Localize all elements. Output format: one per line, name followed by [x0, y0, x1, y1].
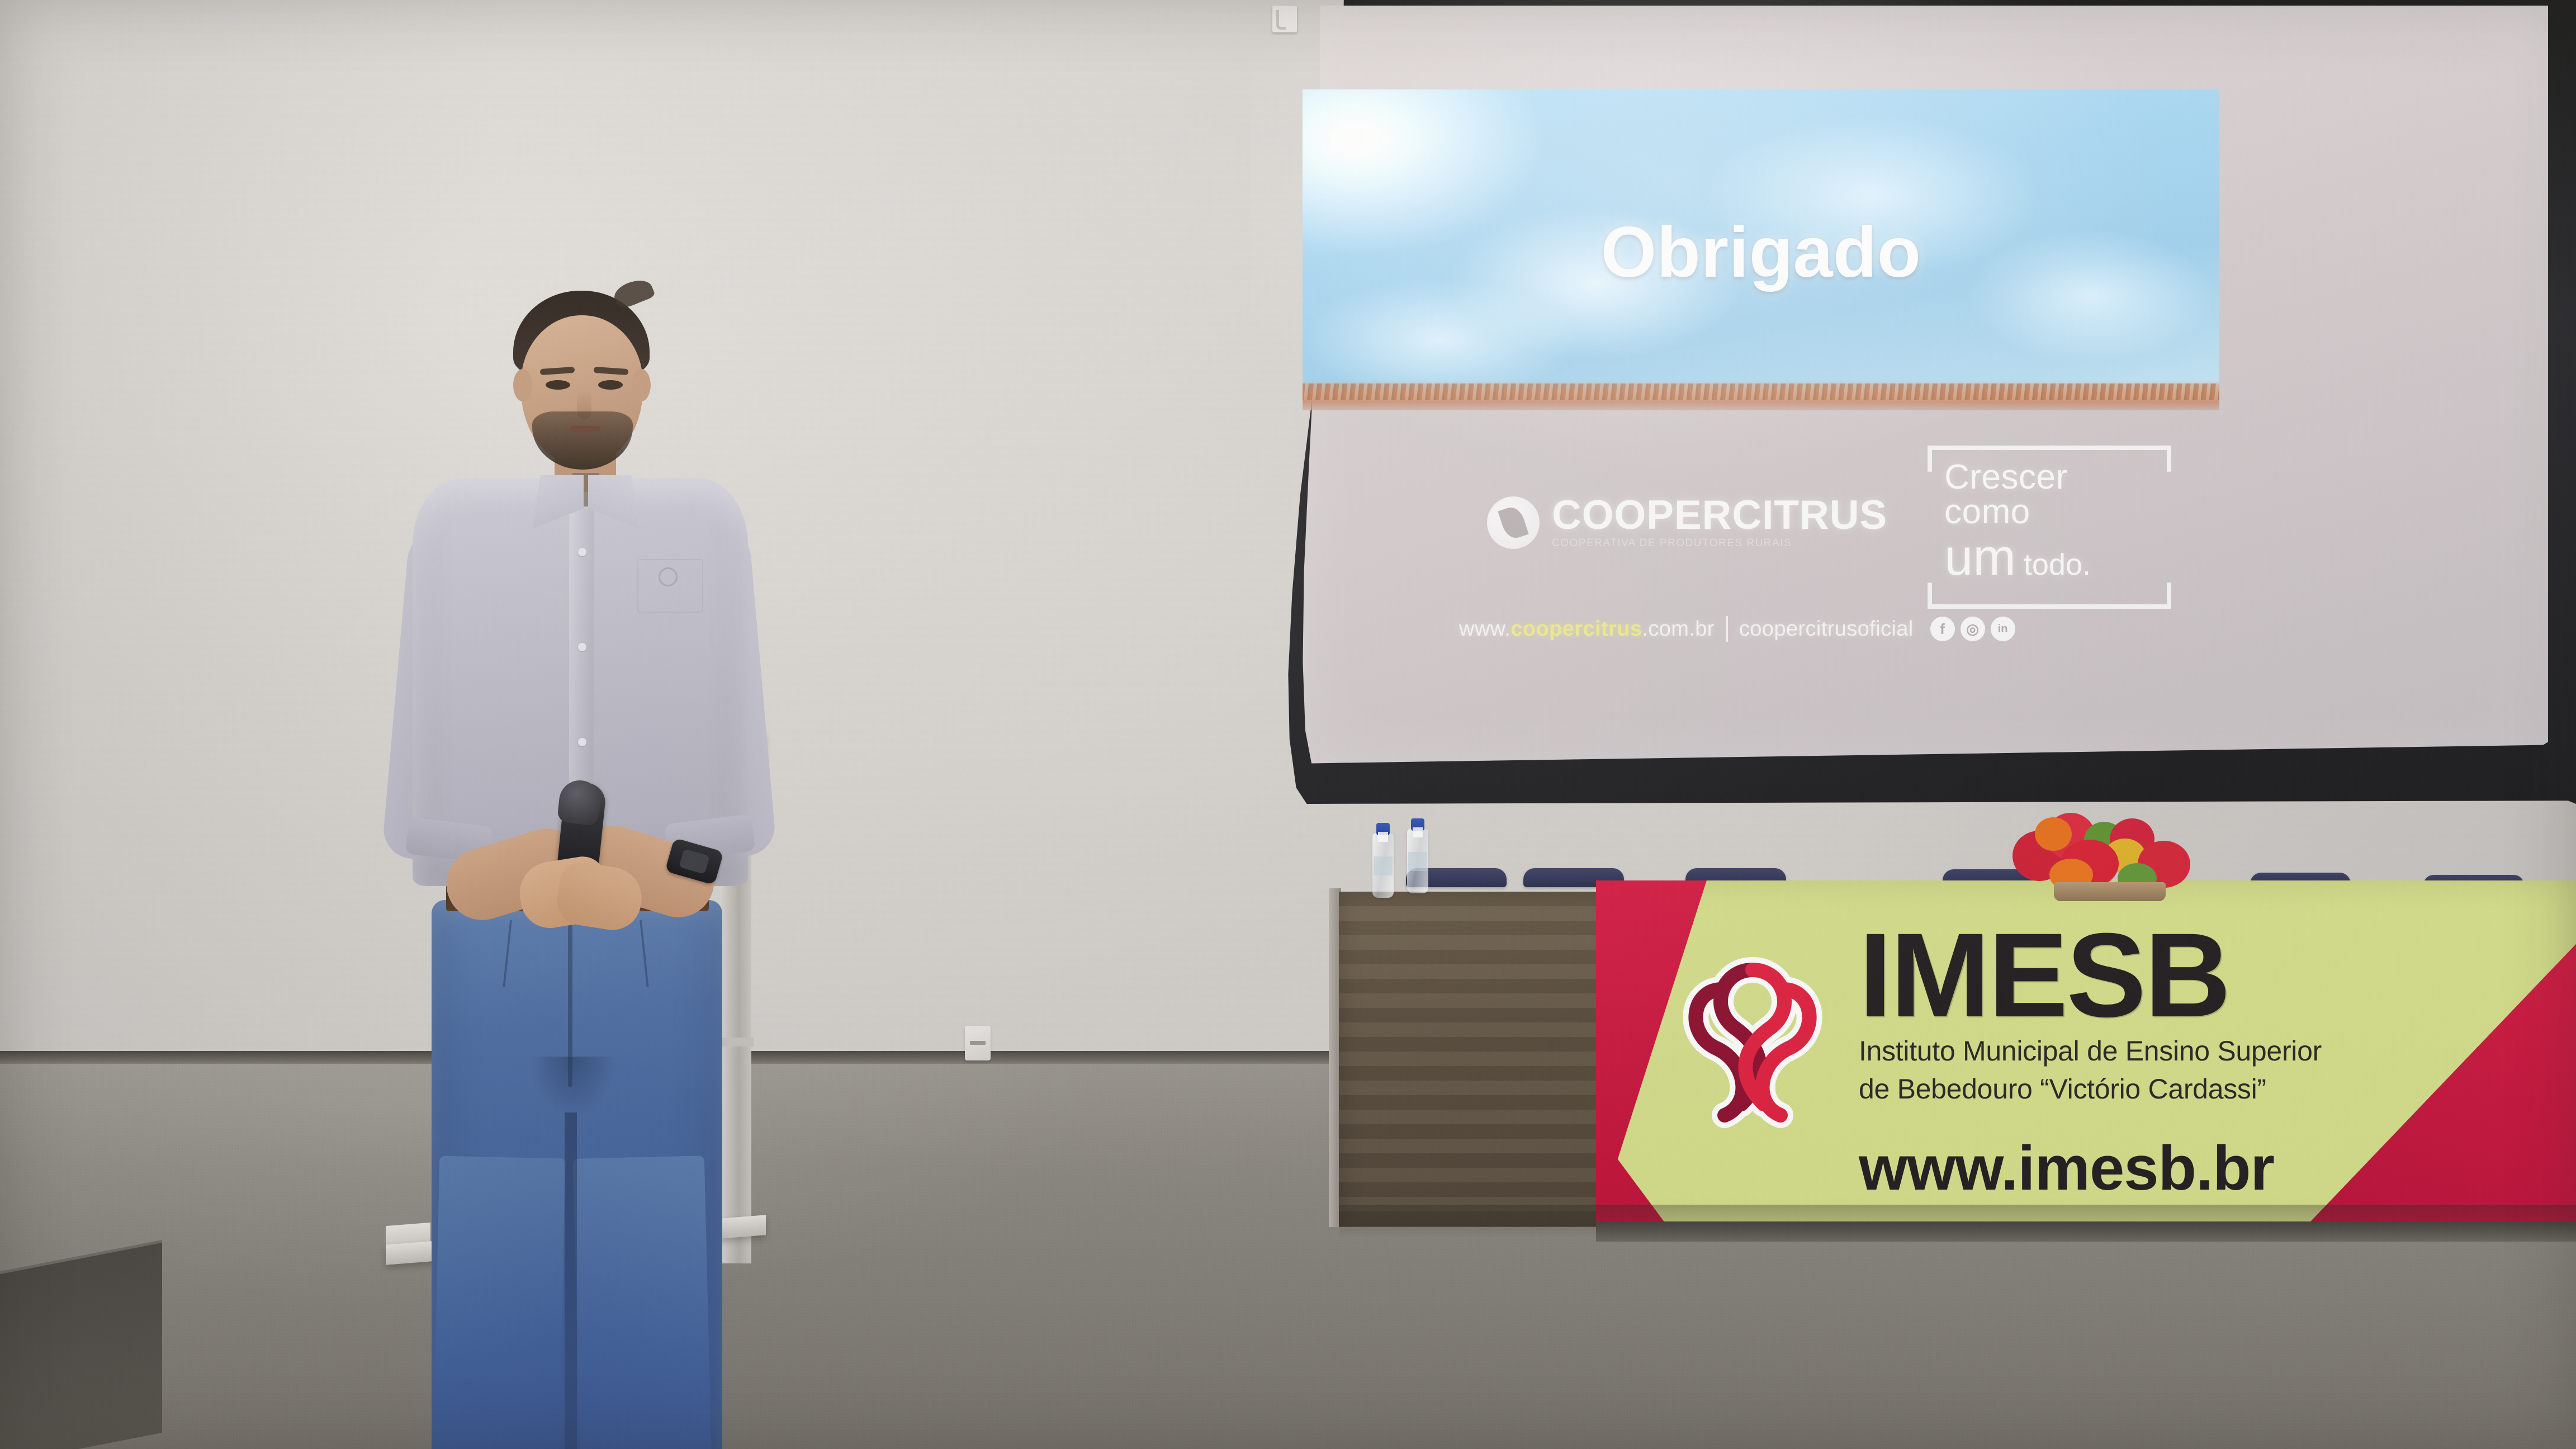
tagline-emphasis: um [1944, 532, 2016, 583]
water-bottle [1407, 828, 1428, 893]
facebook-icon: f [1930, 617, 1955, 641]
mouth [569, 426, 600, 433]
jean-inseam [565, 1112, 577, 1449]
slide-branding-row: COOPERCITRUS COOPERATIVA DE PRODUTORES R… [1487, 458, 2063, 587]
table-wood-front [1339, 892, 1618, 1227]
coopercitrus-wordmark: COOPERCITRUS COOPERATIVA DE PRODUTORES R… [1552, 496, 1887, 550]
social-icons: f ◎ in [1930, 617, 2015, 641]
flower-arrangement [2000, 805, 2224, 903]
slide-title: Obrigado [1303, 211, 2219, 293]
tagline-frame: Crescer como um todo. [1928, 446, 2162, 600]
wall-outlet-plate [965, 1026, 991, 1060]
imesb-knot-logo [1669, 936, 1836, 1160]
tagline-line1: Crescer como [1944, 460, 2143, 529]
slide-footer: www. coopercitrus .com.br coopercitrusof… [1459, 609, 2130, 648]
coopercitrus-name: COOPERCITRUS [1552, 496, 1887, 534]
ear-right [632, 369, 651, 401]
footer-handle: coopercitrusoficial [1739, 617, 1914, 641]
head-table: IMESB Instituto Municipal de Ensino Supe… [1339, 892, 2576, 1227]
eye-left [546, 380, 570, 390]
shirt-button [578, 548, 586, 556]
footer-url-brand: coopercitrus [1510, 617, 1642, 641]
water-bottle [1372, 833, 1394, 898]
banner-title: IMESB [1859, 924, 2440, 1027]
floor-step [0, 1243, 162, 1449]
banner-subtitle-line2: de Bebedouro “Victório Cardassi” [1859, 1073, 2440, 1105]
instagram-icon: ◎ [1961, 617, 1985, 641]
slide-horizon-band [1303, 380, 2219, 410]
flower-base [2054, 882, 2166, 901]
beard [532, 411, 633, 470]
jean-leg-right [573, 1156, 713, 1449]
speaker [335, 285, 799, 1448]
bottle-label [1408, 852, 1427, 871]
leaf-flame-icon [1487, 496, 1540, 549]
footer-url-prefix: www. [1459, 617, 1510, 641]
banner-url: www.imesb.br [1859, 1132, 2440, 1204]
jean-leg-left [433, 1156, 566, 1449]
bottle-neck [1378, 832, 1388, 842]
footer-url-suffix: .com.br [1642, 617, 1715, 641]
linkedin-icon: in [1991, 617, 2015, 641]
banner-subtitle-line1: Instituto Municipal de Ensino Superior [1859, 1035, 2440, 1067]
imesb-banner: IMESB Instituto Municipal de Ensino Supe… [1596, 880, 2576, 1227]
flower-petal [2035, 817, 2072, 851]
bottle-label [1374, 856, 1393, 875]
ear-left [513, 369, 532, 401]
coopercitrus-logo: COOPERCITRUS COOPERATIVA DE PRODUTORES R… [1487, 496, 1887, 550]
banner-text-block: IMESB Instituto Municipal de Ensino Supe… [1859, 924, 2440, 1204]
coopercitrus-subtitle: COOPERATIVA DE PRODUTORES RURAIS [1552, 537, 1887, 550]
shirt-pocket-logo [659, 567, 678, 586]
presentation-photo-scene: Obrigado COOPERCITRUS COOPERATIVA DE PRO… [0, 0, 2576, 1449]
footer-separator [1726, 616, 1728, 642]
shirt-button [578, 738, 586, 746]
slide-content: Obrigado COOPERCITRUS COOPERATIVA DE PRO… [1303, 89, 2236, 699]
shirt-button [578, 643, 586, 651]
eye-right [598, 380, 623, 390]
table-floor-shadow [1339, 1205, 2576, 1238]
tagline-line2: todo. [2024, 550, 2091, 580]
bottle-neck [1413, 827, 1423, 837]
